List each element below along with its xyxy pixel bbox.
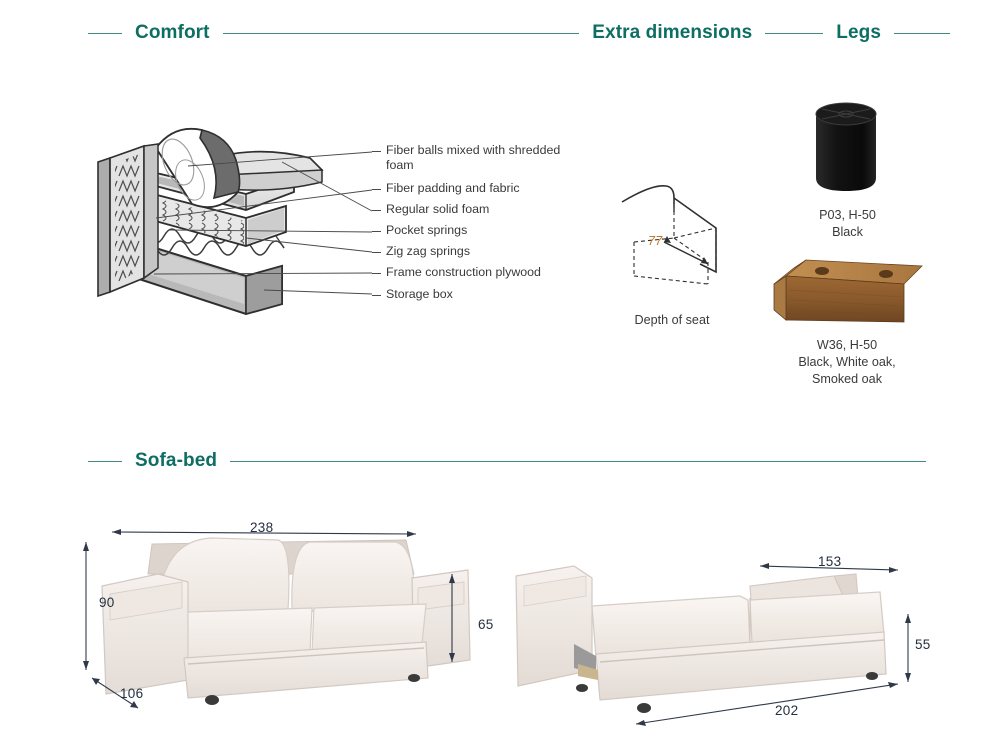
section-title-sofabed: Sofa-bed [122, 450, 230, 472]
callout-fiber-balls: Fiber balls mixed with shredded foam [372, 143, 576, 172]
callout-dash [372, 231, 381, 232]
callout-dash [372, 252, 381, 253]
rule-sofabed [230, 461, 926, 462]
leg-p03-caption: P03, H-50 Black [760, 207, 935, 241]
rule-comfort-extra [223, 33, 580, 34]
bed-height-label: 55 [915, 637, 931, 652]
back-cushion-part [156, 129, 240, 207]
callout-storage-box: Storage box [372, 287, 576, 302]
callout-dash [372, 210, 381, 211]
rule-left [88, 33, 122, 34]
sofa-width-label: 238 [250, 520, 273, 535]
callout-label: Regular solid foam [386, 202, 576, 217]
sofa-height-label: 90 [99, 595, 115, 610]
sofa-closed-svg [96, 512, 516, 722]
callout-fiber-padding: Fiber padding and fabric [372, 181, 576, 196]
leg-w36-svg [770, 254, 930, 332]
callout-frame-plywood: Frame construction plywood [372, 265, 576, 280]
sofa-closed-drawing [96, 512, 516, 722]
callout-dash [372, 273, 381, 274]
sofa-open-svg [512, 548, 932, 728]
rule-left [88, 461, 122, 462]
sofa-depth-label: 106 [120, 686, 143, 701]
spec-sheet-page: Comfort Extra dimensions Legs [0, 0, 987, 747]
sofa-seat-height-label: 65 [478, 617, 494, 632]
callout-zigzag-springs: Zig zag springs [372, 244, 576, 259]
depth-of-seat-caption: Depth of seat [572, 312, 772, 329]
callout-label: Fiber padding and fabric [386, 181, 576, 196]
callout-label: Pocket springs [386, 223, 576, 238]
section-title-extra-dimensions: Extra dimensions [579, 22, 765, 44]
depth-of-seat-svg [604, 172, 739, 287]
callout-label: Zig zag springs [386, 244, 576, 259]
callout-label: Storage box [386, 287, 576, 302]
callout-pocket-springs: Pocket springs [372, 223, 576, 238]
leg-p03-svg [806, 98, 886, 198]
section-title-legs: Legs [823, 22, 894, 44]
section-header-row-sofabed: Sofa-bed [88, 450, 926, 472]
callout-dash [372, 189, 381, 190]
leg-w36-image [770, 254, 930, 332]
leg-p03-image [806, 98, 886, 198]
rule-right [894, 33, 950, 34]
rule-extra-legs [765, 33, 823, 34]
leg-w36-caption: W36, H-50 Black, White oak, Smoked oak [757, 337, 937, 388]
depth-of-seat-diagram: 77 [604, 172, 739, 287]
bed-length-label: 202 [775, 703, 798, 718]
bed-width-label: 153 [818, 554, 841, 569]
comfort-cutaway-diagram [96, 118, 376, 328]
sofa-open-drawing [512, 548, 932, 728]
cutaway-svg [96, 118, 376, 328]
depth-of-seat-value: 77 [648, 234, 663, 248]
callout-label: Frame construction plywood [386, 265, 576, 280]
section-header-row-top: Comfort Extra dimensions Legs [88, 22, 950, 44]
callout-label: Fiber balls mixed with shredded foam [386, 143, 576, 172]
callout-dash [372, 295, 381, 296]
back-panel-part [98, 144, 158, 296]
section-title-comfort: Comfort [122, 22, 223, 44]
callout-solid-foam: Regular solid foam [372, 202, 576, 217]
callout-dash [372, 151, 381, 152]
